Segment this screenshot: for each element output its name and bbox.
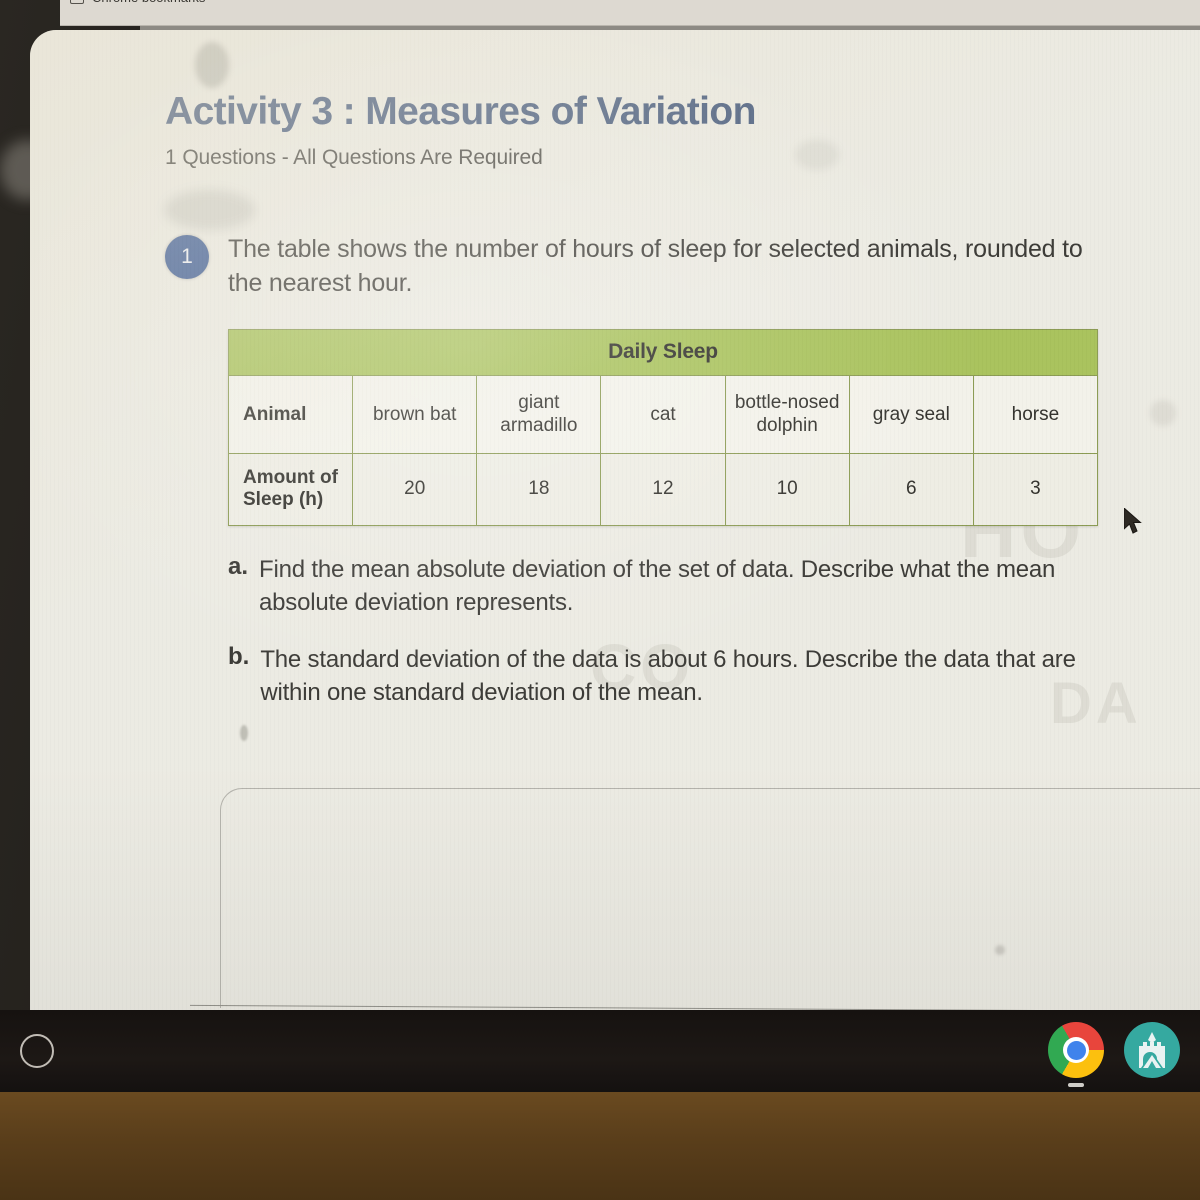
chrome-app-icon[interactable] [1048, 1022, 1104, 1078]
cell-animal-cat: cat [601, 375, 725, 453]
animal-line2: armadillo [500, 415, 577, 436]
cell-animal-giant-armadillo: giant armadillo [477, 375, 601, 453]
active-app-indicator [1068, 1083, 1084, 1087]
cell-hours-cat: 12 [601, 453, 725, 525]
answer-input-area[interactable] [220, 788, 1200, 1008]
cell-hours-giant-armadillo: 18 [477, 453, 601, 525]
question-number-badge: 1 [165, 235, 209, 279]
question-part-a: a. Find the mean absolute deviation of t… [228, 553, 1078, 619]
page-subtitle: 1 Questions - All Questions Are Required [165, 146, 1200, 170]
castle-app-icon[interactable] [1124, 1022, 1180, 1078]
part-a-label: a. [228, 553, 248, 619]
animal-line1: bottle-nosed [735, 392, 840, 413]
cell-hours-horse: 3 [973, 453, 1097, 525]
table-row-hours: Amount of Sleep (h) 20 18 12 10 6 3 [229, 453, 1098, 525]
mouse-cursor [1124, 508, 1146, 538]
row-header-animal: Animal [229, 375, 353, 453]
cell-animal-brown-bat: brown bat [353, 375, 477, 453]
part-b-label: b. [228, 643, 249, 709]
row-header-line2: Sleep (h) [243, 489, 323, 510]
row-header-line1: Amount of [243, 467, 338, 488]
animal-line1: giant [518, 392, 559, 413]
bookmarks-bar[interactable]: Chrome bookmarks [60, 0, 1200, 26]
question-block: 1 The table shows the number of hours of… [165, 232, 1200, 733]
animal-line2: dolphin [756, 415, 817, 436]
bookmark-label: Chrome bookmarks [92, 0, 205, 5]
question-parts: a. Find the mean absolute deviation of t… [228, 553, 1078, 709]
photo-of-chromebook-screen: Chrome bookmarks HO CO DA Activity 3 : M… [0, 0, 1200, 1200]
page-title: Activity 3 : Measures of Variation [165, 92, 1200, 133]
question-part-b: b. The standard deviation of the data is… [228, 643, 1078, 709]
worksheet-page: HO CO DA Activity 3 : Measures of Variat… [30, 30, 1200, 1080]
chromeos-shelf [0, 1010, 1200, 1092]
table-title: Daily Sleep [229, 329, 1098, 375]
bookmark-folder-icon [70, 0, 84, 4]
table-title-row: Daily Sleep [229, 329, 1098, 375]
part-a-text: Find the mean absolute deviation of the … [259, 553, 1078, 619]
part-b-text: The standard deviation of the data is ab… [260, 643, 1078, 709]
cell-hours-brown-bat: 20 [353, 453, 477, 525]
cell-animal-gray-seal: gray seal [849, 375, 973, 453]
cell-animal-horse: horse [973, 375, 1097, 453]
shelf-app-list [1048, 1022, 1180, 1078]
bookmark-item[interactable]: Chrome bookmarks [70, 0, 205, 5]
row-header-amount-of-sleep: Amount of Sleep (h) [229, 453, 353, 525]
cell-animal-bottle-nosed-dolphin: bottle-nosed dolphin [725, 375, 849, 453]
daily-sleep-table: Daily Sleep Animal brown bat giant armad… [228, 329, 1098, 526]
table-row-animal: Animal brown bat giant armadillo cat bot… [229, 375, 1098, 453]
question-stem: The table shows the number of hours of s… [228, 232, 1108, 300]
launcher-button-icon[interactable] [20, 1034, 54, 1068]
desk-surface [0, 1092, 1200, 1200]
cell-hours-bottle-nosed-dolphin: 10 [725, 453, 849, 525]
cell-hours-gray-seal: 6 [849, 453, 973, 525]
